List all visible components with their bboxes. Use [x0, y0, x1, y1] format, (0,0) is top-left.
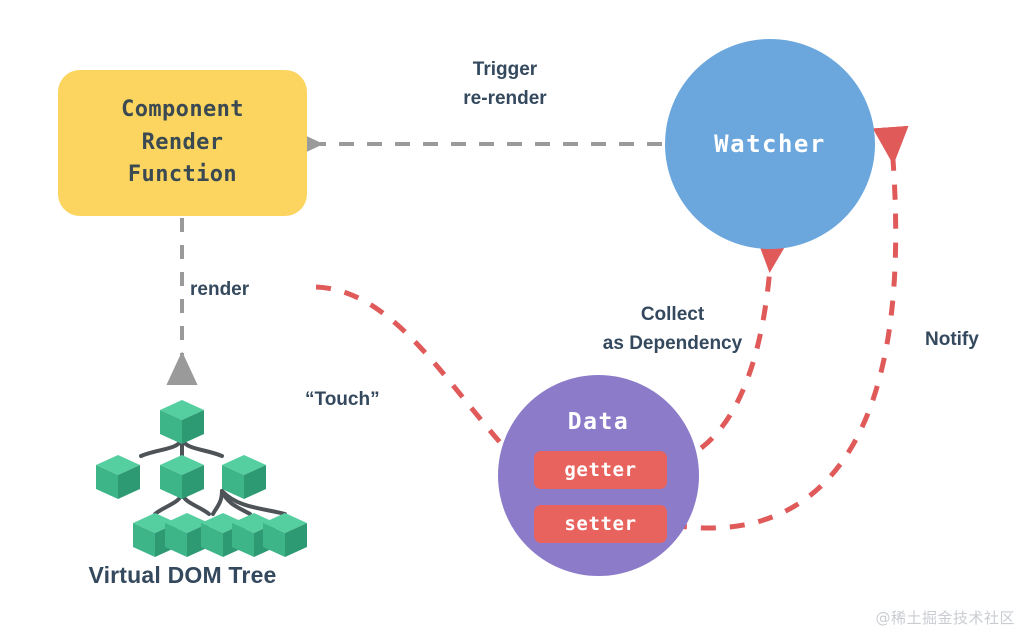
getter-label: getter	[564, 459, 636, 481]
vdom-node	[160, 400, 204, 444]
edge-label-touch: “Touch”	[305, 385, 430, 414]
watermark-text: @稀土掘金技术社区	[875, 607, 1015, 628]
vdom-tree-nodes	[96, 400, 307, 557]
vdom-node	[222, 455, 266, 499]
virtual-dom-tree-caption: Virtual DOM Tree	[60, 562, 305, 589]
vdom-node	[96, 455, 140, 499]
edge-label-collect-as-dependency: Collect as Dependency	[600, 300, 745, 359]
data-node[interactable]: Data getter setter	[498, 375, 699, 576]
getter-box[interactable]: getter	[534, 451, 667, 489]
edge-label-trigger-re-render: Trigger re-render	[420, 55, 590, 114]
edge-label-render: render	[190, 275, 310, 304]
vdom-node	[160, 455, 204, 499]
component-render-function-node[interactable]: Component Render Function	[58, 70, 307, 216]
setter-label: setter	[564, 513, 636, 535]
watcher-label: Watcher	[714, 130, 826, 158]
component-render-function-label: Component Render Function	[121, 94, 244, 192]
data-label: Data	[498, 409, 699, 435]
setter-box[interactable]: setter	[534, 505, 667, 543]
diagram-canvas: Component Render Function Watcher Data g…	[0, 0, 1027, 636]
edge-label-notify: Notify	[925, 325, 1020, 354]
vdom-node	[263, 513, 307, 557]
edge-touch	[316, 287, 524, 468]
watcher-node[interactable]: Watcher	[665, 39, 875, 249]
